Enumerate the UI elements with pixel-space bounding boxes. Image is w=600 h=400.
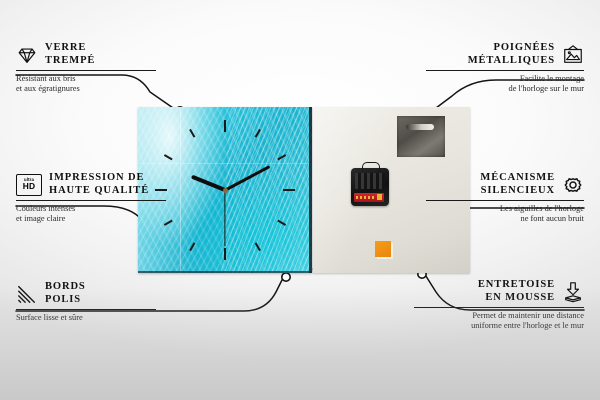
ultra-hd-icon: ultra HD <box>16 174 42 196</box>
feature-description: Facilite le montage de l'horloge sur le … <box>426 74 584 95</box>
polished-edge-icon <box>16 283 38 305</box>
feature-description: Couleurs intenses et image claire <box>16 204 166 225</box>
foam-spacer-icon <box>562 281 584 303</box>
feature-title: MÉCANISME SILENCIEUX <box>480 172 555 197</box>
feature-rule <box>16 309 156 310</box>
feature-entretoise-en-mousse: ENTRETOISE EN MOUSSE Permet de maintenir… <box>414 279 584 332</box>
ultra-hd-icon-bottom: HD <box>23 182 36 190</box>
feature-rule <box>414 307 584 308</box>
feature-description: Les aiguilles de l'horloge ne font aucun… <box>426 204 584 225</box>
feature-title: ENTRETOISE EN MOUSSE <box>478 279 555 304</box>
panel-edge-right <box>309 107 312 273</box>
orange-foam-spacer <box>375 241 391 257</box>
feature-header: VERRE TREMPÉ <box>16 42 156 67</box>
battery-terminal <box>377 194 382 200</box>
feature-title: VERRE TREMPÉ <box>45 42 95 67</box>
aa-battery <box>354 193 384 202</box>
feature-description: Surface lisse et sûre <box>16 313 156 323</box>
metal-hanger-plate-icon <box>397 116 445 157</box>
feature-header: BORDS POLIS <box>16 281 156 306</box>
feature-rule <box>16 200 166 201</box>
feature-rule <box>426 200 584 201</box>
feature-impression-haute-qualite: ultra HD IMPRESSION DE HAUTE QUALITÉ Cou… <box>16 172 166 225</box>
feature-header: ultra HD IMPRESSION DE HAUTE QUALITÉ <box>16 172 166 197</box>
feature-header: POIGNÉES MÉTALLIQUES <box>426 42 584 67</box>
mechanism-hook <box>362 162 380 172</box>
feature-header: ENTRETOISE EN MOUSSE <box>414 279 584 304</box>
feature-bords-polis: BORDS POLIS Surface lisse et sûre <box>16 281 156 323</box>
feature-description: Permet de maintenir une distance uniform… <box>414 311 584 332</box>
hanger-slot <box>406 124 434 130</box>
feature-description: Résistant aux bris et aux égratignures <box>16 74 156 95</box>
feature-title: BORDS POLIS <box>45 281 86 306</box>
clock-tick-12 <box>224 120 226 190</box>
product-image <box>138 107 470 273</box>
quartz-mechanism <box>351 168 389 206</box>
feature-poignees-metalliques: POIGNÉES MÉTALLIQUES Facilite le montage… <box>426 42 584 95</box>
feature-title: IMPRESSION DE HAUTE QUALITÉ <box>49 172 149 197</box>
picture-frame-icon <box>562 44 584 66</box>
infographic-canvas: VERRE TREMPÉ Résistant aux bris et aux é… <box>0 0 600 400</box>
diamond-icon <box>16 44 38 66</box>
feature-title: POIGNÉES MÉTALLIQUES <box>468 42 555 67</box>
feature-verre-trempe: VERRE TREMPÉ Résistant aux bris et aux é… <box>16 42 156 95</box>
mechanism-body <box>355 173 385 189</box>
feature-rule <box>16 70 156 71</box>
gear-icon <box>562 174 584 196</box>
feature-rule <box>426 70 584 71</box>
feature-header: MÉCANISME SILENCIEUX <box>426 172 584 197</box>
battery-label <box>356 196 376 199</box>
clock-tick-3 <box>225 189 295 191</box>
panel-edge-bottom <box>138 271 312 273</box>
feature-mecanisme-silencieux: MÉCANISME SILENCIEUX Les aiguilles de l'… <box>426 172 584 225</box>
clock-center-hub <box>223 188 228 193</box>
